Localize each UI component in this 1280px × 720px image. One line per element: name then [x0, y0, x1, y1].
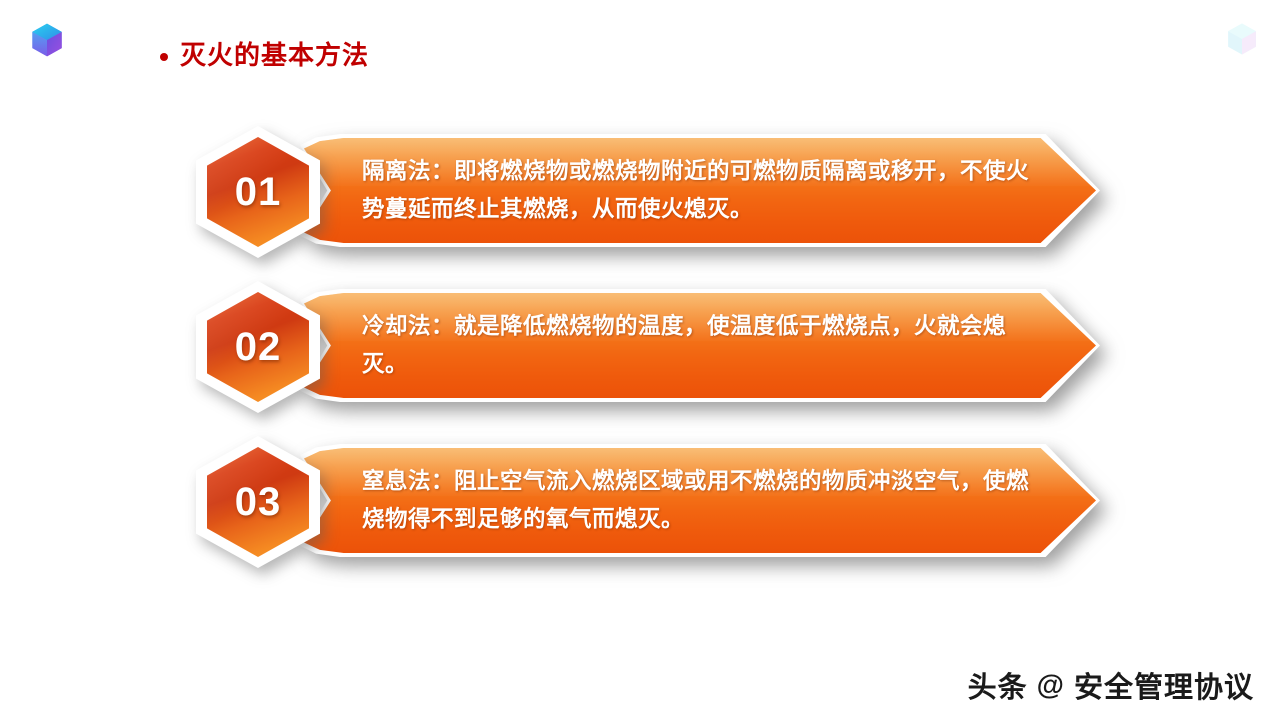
- page-title: 灭火的基本方法: [160, 42, 369, 68]
- method-banner: 窒息法：阻止空气流入燃烧区域或用不燃烧的物质冲淡空气，使燃烧物得不到足够的氧气而…: [300, 444, 1100, 557]
- watermark-platform: 头条: [968, 664, 1028, 706]
- method-banner: 隔离法：即将燃烧物或燃烧物附近的可燃物质隔离或移开，不使火势蔓延而终止其燃烧，从…: [300, 134, 1100, 247]
- watermark: 头条 @ 安全管理协议: [968, 664, 1254, 706]
- list-item: 窒息法：阻止空气流入燃烧区域或用不燃烧的物质冲淡空气，使燃烧物得不到足够的氧气而…: [0, 436, 1280, 591]
- method-number-badge: 02: [196, 281, 320, 413]
- method-text: 冷却法：就是降低燃烧物的温度，使温度低于燃烧点，火就会熄灭。: [362, 307, 1030, 384]
- watermark-account: 安全管理协议: [1074, 664, 1254, 706]
- list-item: 隔离法：即将燃烧物或燃烧物附近的可燃物质隔离或移开，不使火势蔓延而终止其燃烧，从…: [0, 126, 1280, 281]
- hexagon-cube-watermark-icon: [1226, 22, 1258, 56]
- page-title-label: 灭火的基本方法: [180, 42, 369, 68]
- method-number-badge: 01: [196, 126, 320, 258]
- list-item: 冷却法：就是降低燃烧物的温度，使温度低于燃烧点，火就会熄灭。 02: [0, 281, 1280, 436]
- method-number-label: 03: [235, 482, 282, 522]
- method-number-label: 02: [235, 327, 282, 367]
- dot-bullet-icon: [160, 53, 168, 61]
- method-text: 窒息法：阻止空气流入燃烧区域或用不燃烧的物质冲淡空气，使燃烧物得不到足够的氧气而…: [362, 462, 1030, 539]
- methods-list: 隔离法：即将燃烧物或燃烧物附近的可燃物质隔离或移开，不使火势蔓延而终止其燃烧，从…: [0, 126, 1280, 591]
- method-number-label: 01: [235, 172, 282, 212]
- method-text: 隔离法：即将燃烧物或燃烧物附近的可燃物质隔离或移开，不使火势蔓延而终止其燃烧，从…: [362, 152, 1030, 229]
- watermark-at-icon: @: [1037, 669, 1065, 701]
- method-banner: 冷却法：就是降低燃烧物的温度，使温度低于燃烧点，火就会熄灭。: [300, 289, 1100, 402]
- method-number-badge: 03: [196, 436, 320, 568]
- hexagon-cube-logo-icon: [30, 22, 64, 58]
